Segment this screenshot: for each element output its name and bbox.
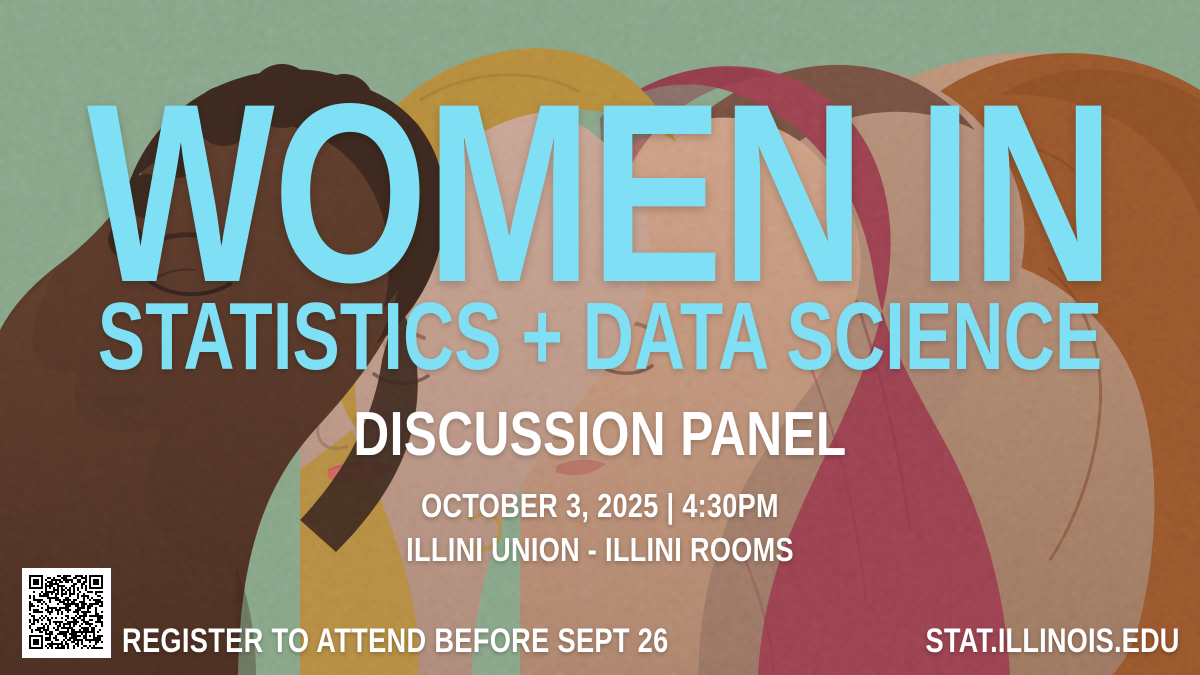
- event-poster: WOMEN IN STATISTICS + DATA SCIENCE DISCU…: [0, 0, 1200, 675]
- event-date-time: OCTOBER 3, 2025 | 4:30PM: [421, 487, 779, 525]
- qr-code[interactable]: [22, 568, 111, 658]
- event-location: ILLINI UNION - ILLINI ROOMS: [406, 531, 794, 569]
- headline-secondary: STATISTICS + DATA SCIENCE: [98, 296, 1102, 379]
- website-url[interactable]: STAT.ILLINOIS.EDU: [926, 622, 1180, 661]
- event-type-subhead: DISCUSSION PANEL: [353, 404, 846, 466]
- registration-note: REGISTER TO ATTEND BEFORE SEPT 26: [122, 622, 669, 661]
- headline-primary: WOMEN IN: [87, 84, 1113, 303]
